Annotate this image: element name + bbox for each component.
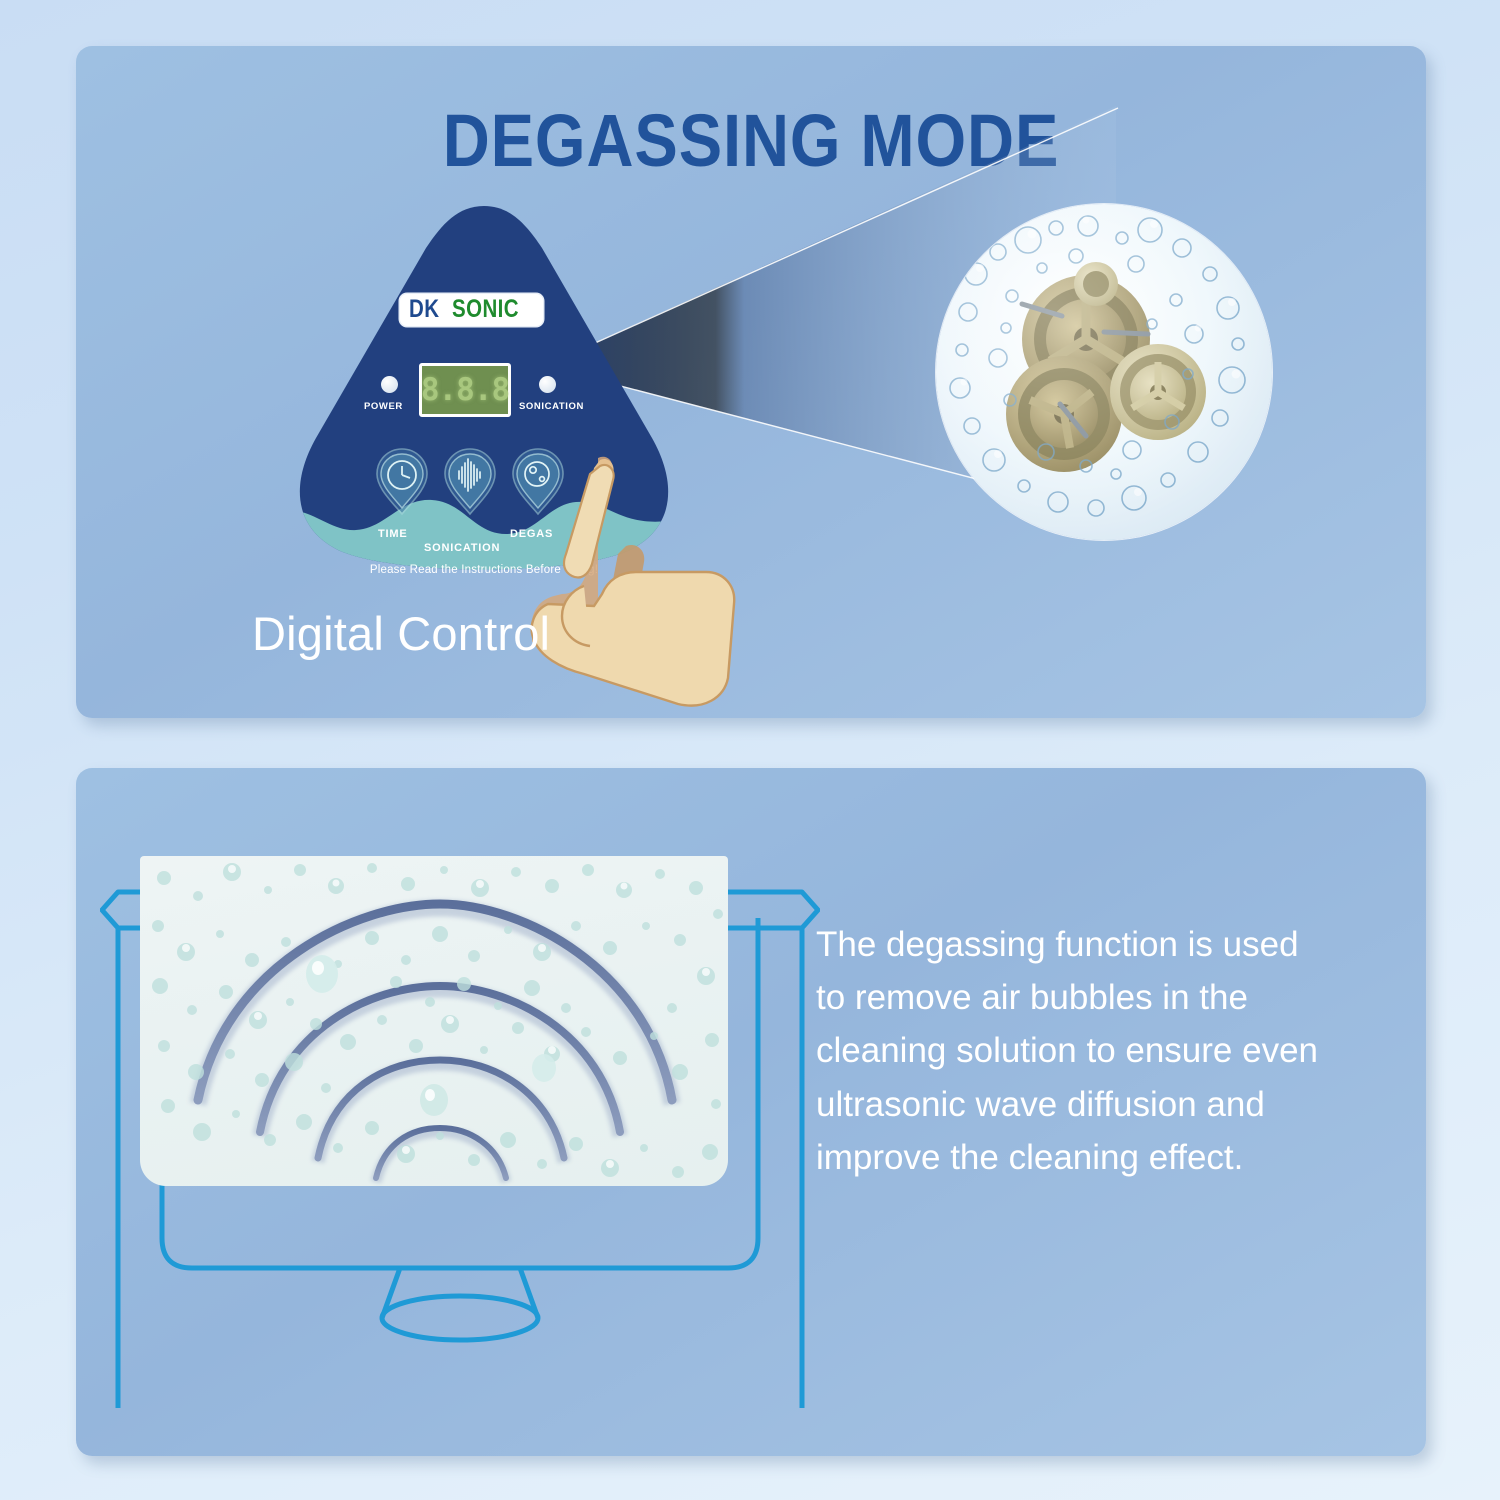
description-line-3: cleaning solution to ensure even [816, 1024, 1396, 1077]
led-display: 8.8.8 [419, 363, 511, 417]
sonication-indicator-label: SONICATION [519, 401, 584, 412]
description-line-2: to remove air bubbles in the [816, 971, 1396, 1024]
digital-control-caption: Digital Control [252, 606, 550, 661]
power-indicator-label: POWER [364, 401, 403, 412]
description-line-1: The degassing function is used [816, 918, 1396, 971]
time-button-label: TIME [378, 528, 407, 540]
degassing-mode-panel-card: DEGASSING MODE [76, 46, 1426, 718]
dk-sonic-logo: DK SONIC [400, 294, 543, 326]
pointing-hand-illustration [528, 454, 758, 714]
tank-liquid-bubbles [140, 856, 728, 1186]
logo-dk-text: DK [409, 297, 439, 322]
time-button[interactable] [370, 446, 434, 518]
power-indicator-light [381, 376, 398, 393]
description-text: The degassing function is used to remove… [816, 918, 1396, 1184]
magnified-bubbles-circle [936, 204, 1272, 540]
sonication-button[interactable] [438, 446, 502, 518]
description-line-4: ultrasonic wave diffusion and [816, 1078, 1396, 1131]
sonication-button-label: SONICATION [424, 542, 500, 554]
page-title: DEGASSING MODE [157, 98, 1345, 183]
sonication-indicator-light [539, 376, 556, 393]
infographic-root: DEGASSING MODE [0, 0, 1500, 1500]
display-value: 8.8.8 [421, 372, 509, 408]
description-line-5: improve the cleaning effect. [816, 1131, 1396, 1184]
degassing-description-card: The degassing function is used to remove… [76, 768, 1426, 1456]
logo-sonic-text: SONIC [452, 297, 519, 322]
